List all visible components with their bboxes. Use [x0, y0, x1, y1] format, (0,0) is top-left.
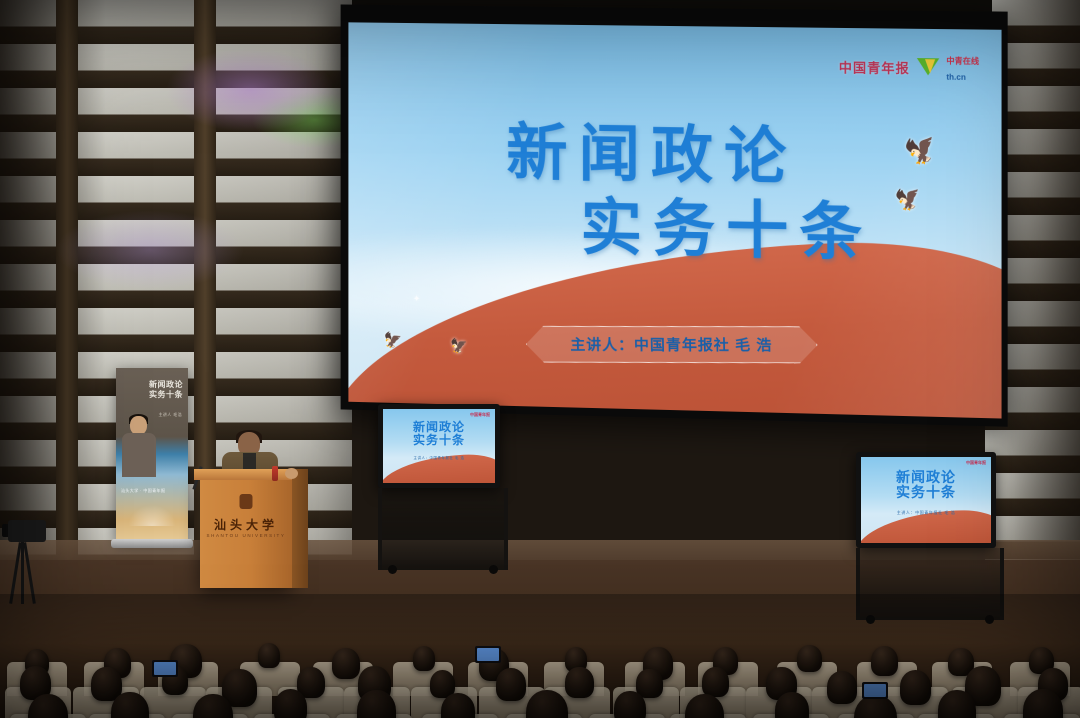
audience-tablet	[475, 646, 501, 663]
audience-head	[614, 691, 646, 718]
monitor-right-screen: 中国青年报 新闻政论 实务十条 主讲人：中国青年报社 毛 浩	[861, 457, 991, 543]
assistant-hand	[285, 468, 298, 479]
audience-tablet	[862, 682, 888, 699]
site-logo-en: th.cn	[946, 73, 965, 82]
water-bottle	[272, 466, 278, 481]
dove-icon: 🦅	[450, 337, 468, 355]
audience-head	[636, 669, 662, 698]
audience-head	[827, 671, 857, 704]
lectern-university-name-en: SHANTOU UNIVERSITY	[200, 533, 292, 538]
lectern-side	[292, 469, 308, 588]
rollup-title-line2: 实务十条	[149, 390, 183, 400]
projection-screen: 中国青年报 中青在线 th.cn 新闻政论 实务十条 主讲人：中国青年报社 毛 …	[341, 4, 1008, 426]
monitor-left-title-line2: 实务十条	[383, 434, 495, 447]
university-seal-icon	[240, 494, 253, 509]
monitor-left: 中国青年报 新闻政论 实务十条 主讲人：中国青年报社 毛 浩	[378, 404, 500, 488]
china-youth-daily-logo: 中国青年报	[839, 57, 910, 77]
audience-head	[258, 643, 281, 668]
audience-head	[274, 689, 308, 718]
audience-head	[797, 645, 822, 672]
kite-speck-icon: ✦	[413, 293, 420, 304]
audience-head	[496, 668, 526, 701]
audience-head	[900, 670, 932, 705]
monitor-right-title: 新闻政论 实务十条	[861, 471, 991, 502]
projected-slide: 中国青年报 中青在线 th.cn 新闻政论 实务十条 主讲人：中国青年报社 毛 …	[348, 22, 1001, 418]
monitor-right: 中国青年报 新闻政论 实务十条 主讲人：中国青年报社 毛 浩	[856, 452, 996, 548]
monitor-right-logo: 中国青年报	[966, 460, 986, 466]
rollup-speaker-photo	[122, 416, 156, 476]
audience-head	[871, 646, 898, 676]
lecture-hall-photo: 中国青年报 中青在线 th.cn 新闻政论 实务十条 主讲人：中国青年报社 毛 …	[0, 0, 1080, 718]
monitor-right-subtitle: 主讲人：中国青年报社 毛 浩	[861, 510, 991, 516]
monitor-right-title-line2: 实务十条	[861, 486, 991, 502]
site-logo-cn: 中青在线	[946, 56, 979, 66]
slide-title-line1: 新闻政论	[348, 119, 1001, 192]
lectern-university-name: 汕头大学	[200, 516, 292, 533]
monitor-left-subtitle: 主讲人：中国青年报社 毛 浩	[383, 455, 495, 460]
dove-icon: 🦅	[382, 330, 403, 351]
monitor-left-screen: 中国青年报 新闻政论 实务十条 主讲人：中国青年报社 毛 浩	[383, 409, 495, 483]
lectern-top	[194, 469, 298, 480]
audience-head	[413, 646, 436, 671]
lectern: 汕头大学 SHANTOU UNIVERSITY	[200, 478, 292, 588]
slide-speaker-banner: 主讲人：中国青年报社 毛 浩	[525, 326, 818, 364]
rollup-subtitle: 主讲人 毛浩	[158, 412, 182, 418]
audience-head	[565, 667, 594, 698]
rollup-banner: 新闻政论 实务十条 主讲人 毛浩 汕头大学 · 中国青年报	[116, 368, 188, 540]
dove-icon: 🦅	[893, 186, 924, 215]
monitor-left-logo: 中国青年报	[470, 412, 490, 418]
kite-icon	[917, 56, 939, 78]
audience-head	[332, 648, 360, 679]
rollup-title: 新闻政论 实务十条	[149, 380, 183, 400]
slide-brand-logo: 中国青年报 中青在线 th.cn	[839, 50, 979, 84]
audience-head	[702, 667, 729, 697]
monitor-left-title: 新闻政论 实务十条	[383, 421, 495, 448]
audience-head	[938, 690, 976, 718]
av-cart-left	[378, 488, 508, 570]
audience-tablet	[152, 660, 178, 677]
audience-seating	[0, 594, 1080, 718]
site-logo: 中青在线 th.cn	[946, 51, 979, 84]
rollup-skyline-art	[116, 492, 188, 526]
rollup-base	[111, 539, 193, 548]
camera-body	[8, 520, 46, 542]
rollup-title-line1: 新闻政论	[149, 380, 183, 390]
